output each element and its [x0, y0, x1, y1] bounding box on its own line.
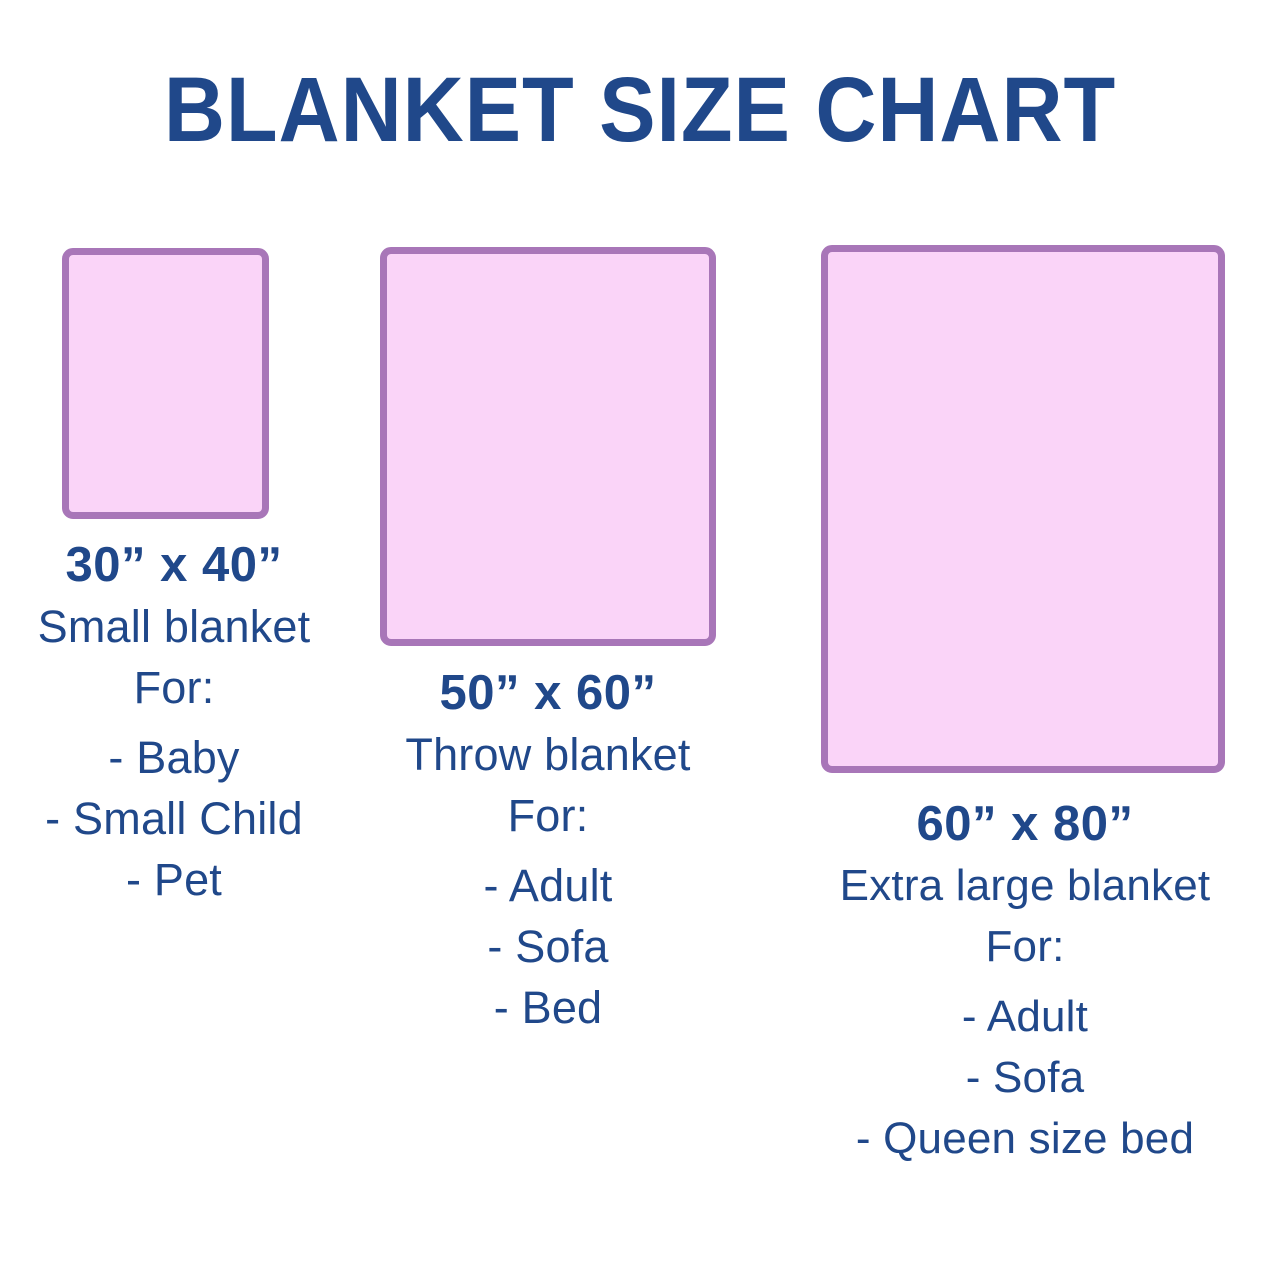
blanket-use-item: - Baby: [0, 727, 360, 788]
blanket-info-small: 30” x 40” Small blanket For: - Baby - Sm…: [0, 534, 360, 910]
spacer-small: [0, 718, 360, 727]
blanket-name-small: Small blanket: [0, 596, 360, 657]
blanket-use-item: - Pet: [0, 849, 360, 910]
blanket-info-extra-large: 60” x 80” Extra large blanket For: - Adu…: [795, 793, 1255, 1169]
spacer-throw: [368, 846, 728, 855]
blanket-dimensions-throw: 50” x 60”: [368, 662, 728, 724]
blanket-dimensions-extra-large: 60” x 80”: [795, 793, 1255, 855]
blanket-for-label-throw: For:: [368, 785, 728, 846]
blanket-use-item: - Queen size bed: [795, 1108, 1255, 1169]
blanket-for-label-small: For:: [0, 657, 360, 718]
blanket-use-item: - Adult: [795, 986, 1255, 1047]
spacer-extra-large: [795, 977, 1255, 986]
blanket-swatch-throw: [380, 247, 716, 646]
blanket-swatch-small: [62, 248, 269, 519]
blanket-info-throw: 50” x 60” Throw blanket For: - Adult - S…: [368, 662, 728, 1038]
page-title: BLANKET SIZE CHART: [51, 62, 1229, 158]
blanket-name-throw: Throw blanket: [368, 724, 728, 785]
blanket-use-item: - Small Child: [0, 788, 360, 849]
blanket-use-item: - Sofa: [368, 916, 728, 977]
blanket-use-item: - Bed: [368, 977, 728, 1038]
blanket-name-extra-large: Extra large blanket: [795, 855, 1255, 916]
blanket-for-label-extra-large: For:: [795, 916, 1255, 977]
blanket-swatch-extra-large: [821, 245, 1225, 773]
blanket-use-item: - Adult: [368, 855, 728, 916]
blanket-use-item: - Sofa: [795, 1047, 1255, 1108]
blanket-dimensions-small: 30” x 40”: [0, 534, 360, 596]
blanket-size-chart: BLANKET SIZE CHART 30” x 40” Small blank…: [0, 0, 1280, 1280]
